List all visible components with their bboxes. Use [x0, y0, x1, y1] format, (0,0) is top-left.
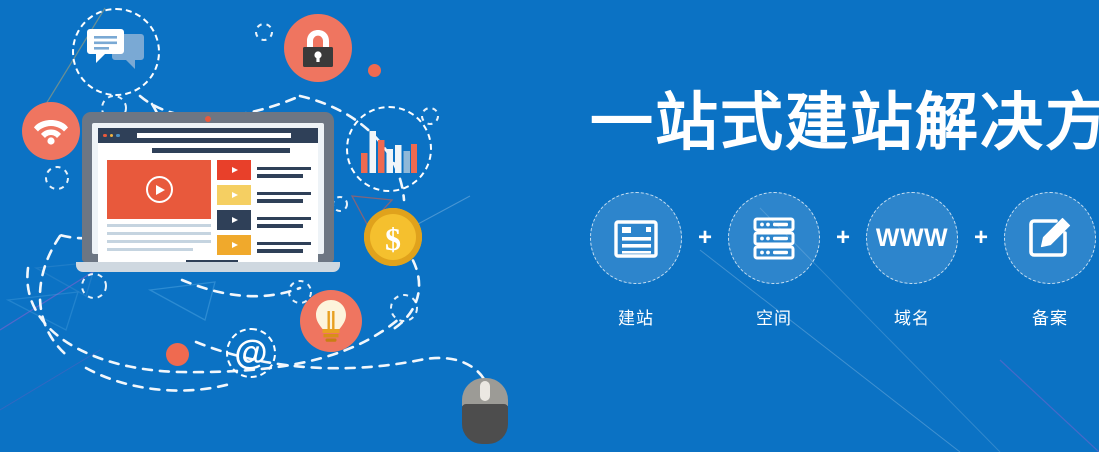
video-player [107, 160, 211, 219]
computer-mouse-icon [462, 378, 508, 444]
laptop-illustration [82, 112, 342, 280]
laptop-screen [92, 123, 324, 254]
browser-dot-red [103, 134, 107, 138]
video-thumbnail [217, 235, 251, 255]
step-hosting-space[interactable]: 空间 [726, 192, 822, 329]
laptop-base [76, 262, 340, 272]
accent-dot [166, 343, 189, 366]
step-circle[interactable] [728, 192, 820, 284]
play-button-icon [146, 176, 173, 203]
browser-dot-yellow [110, 134, 114, 138]
step-website-build[interactable]: 建站 [588, 192, 684, 329]
wifi-icon [22, 102, 80, 160]
video-thumbnail-list [217, 160, 251, 257]
step-label: 域名 [894, 304, 930, 329]
step-separator: + [822, 192, 864, 284]
at-sign-icon: @ [226, 328, 276, 378]
step-icp-filing[interactable]: 备案 [1002, 192, 1098, 329]
step-label: 空间 [756, 304, 792, 329]
page-main-column [107, 160, 211, 257]
server-rack-icon [752, 215, 796, 261]
browser-address-bar [137, 133, 292, 138]
video-thumbnail [217, 210, 251, 230]
chat-bubble-icon [72, 8, 160, 96]
accent-dot [368, 64, 381, 77]
laptop-camera-icon [205, 116, 211, 122]
step-domain-name[interactable]: WWW 域名 [864, 192, 960, 329]
step-separator: + [960, 192, 1002, 284]
banner-headline: 一站式建站解决方案 [590, 92, 1099, 155]
dollar-coin-icon: $ [364, 208, 422, 266]
laptop-lid [82, 112, 334, 262]
website-page-icon [613, 215, 659, 261]
lock-icon [284, 14, 352, 82]
video-thumbnail [217, 185, 251, 205]
service-steps: 建站 + [588, 192, 1098, 329]
step-circle[interactable] [1004, 192, 1096, 284]
step-separator: + [684, 192, 726, 284]
www-text-icon: WWW [876, 224, 948, 253]
step-circle[interactable] [590, 192, 682, 284]
browser-dot-blue [116, 134, 120, 138]
page-side-list [257, 160, 311, 257]
banner-content: 一站式建站解决方案 建站 + [576, 0, 1099, 452]
step-circle[interactable]: WWW [866, 192, 958, 284]
step-label: 备案 [1032, 304, 1068, 329]
step-label: 建站 [618, 304, 654, 329]
edit-pencil-icon [1027, 215, 1073, 261]
bar-chart-icon [346, 106, 432, 192]
svg-text:@: @ [234, 334, 267, 372]
browser-toolbar [98, 128, 318, 143]
lightbulb-icon [300, 290, 362, 352]
hero-illustration: $ @ [0, 0, 560, 452]
video-thumbnail [217, 160, 251, 180]
svg-text:$: $ [385, 221, 401, 257]
promo-banner: $ @ [0, 0, 1099, 452]
